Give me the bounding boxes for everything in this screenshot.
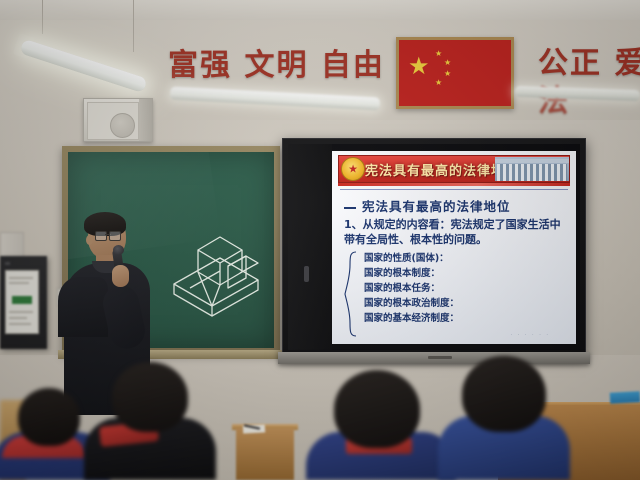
cabinet-poster — [5, 270, 39, 334]
wall-slogan-left: 富强 文明 自由 — [168, 40, 385, 84]
teacher-hand — [112, 265, 129, 287]
chinese-national-flag: ★ ★ ★ ★ ★ — [399, 40, 511, 106]
slide-heading: 宪法具有最高的法律地位 — [344, 196, 566, 215]
speaker-grille — [87, 102, 139, 140]
banner-underline — [338, 183, 570, 186]
bracket-item: 国家的根本政治制度： — [358, 296, 566, 311]
display-side-button[interactable] — [304, 266, 309, 282]
teacher-ear — [86, 235, 93, 245]
slide-banner-title: 宪法具有最高的法律地位 — [365, 160, 495, 179]
isometric-block-drawing-icon — [168, 222, 268, 318]
student-figure — [306, 370, 456, 480]
desk — [236, 428, 294, 480]
curly-brace-icon — [344, 251, 358, 326]
bracket-item: 国家的性质(国体)： — [358, 251, 566, 266]
student-figure — [84, 362, 216, 480]
speaker-side-panel — [139, 99, 152, 141]
flag-big-star: ★ — [408, 54, 430, 78]
cabinet-latch — [5, 262, 10, 265]
flag-small-star: ★ — [444, 70, 451, 78]
display-side-bezel — [288, 144, 332, 350]
slide-banner: 宪法具有最高的法律地位 — [338, 155, 570, 183]
display-screen[interactable]: 宪法具有最高的法律地位 宪法具有最高的法律地位 1、从规定的内容看：宪法规定了国… — [288, 144, 580, 350]
ceiling-edge — [0, 0, 640, 20]
slide-bracket-group: 国家的性质(国体)： 国家的根本制度： 国家的根本任务： 国家的根本政治制度： … — [344, 251, 566, 326]
flag-small-star: ★ — [435, 50, 442, 58]
bracket-item-list: 国家的性质(国体)： 国家的根本制度： 国家的根本任务： 国家的根本政治制度： … — [358, 251, 566, 326]
slide-body: 宪法具有最高的法律地位 1、从规定的内容看：宪法规定了国家生活中 带有全局性、根… — [332, 190, 576, 326]
presentation-slide: 宪法具有最高的法律地位 宪法具有最高的法律地位 1、从规定的内容看：宪法规定了国… — [332, 151, 576, 344]
national-emblem-icon — [341, 157, 365, 181]
light-suspension-wire — [42, 0, 43, 34]
bracket-item: 国家的根本制度： — [358, 266, 566, 281]
slide-paragraph-line-2: 带有全局性、根本性的问题。 — [344, 233, 566, 247]
wall-cabinet — [0, 256, 47, 349]
flag-small-star: ★ — [444, 59, 451, 67]
classroom-photo: 富强 文明 自由 公正 爱 法 ★ ★ ★ ★ ★ — [0, 0, 640, 480]
eyeglasses-icon — [95, 231, 121, 239]
smart-board-display[interactable]: 宪法具有最高的法律地位 宪法具有最高的法律地位 1、从规定的内容看：宪法规定了国… — [282, 138, 586, 356]
slide-divider — [340, 189, 568, 190]
speaker-cone — [110, 113, 135, 138]
slide-footer-marks: · · · · · · — [511, 332, 550, 338]
flag-small-star: ★ — [435, 79, 442, 87]
heading-dash — [344, 207, 356, 209]
slide-paragraph-line-1: 1、从规定的内容看：宪法规定了国家生活中 — [344, 218, 566, 232]
microphone-head — [113, 245, 124, 255]
student-figure — [438, 356, 570, 480]
light-suspension-wire — [133, 0, 134, 52]
great-hall-building-icon — [495, 157, 569, 181]
slide-heading-text: 宪法具有最高的法律地位 — [362, 199, 511, 214]
bracket-item: 国家的基本经济制度： — [358, 311, 566, 326]
speaker-icon — [83, 98, 153, 142]
poster-green-band — [12, 296, 32, 304]
teacher-shoulder — [58, 277, 108, 337]
book — [610, 391, 640, 404]
flag-frame: ★ ★ ★ ★ ★ — [396, 37, 514, 109]
bracket-item: 国家的根本任务： — [358, 281, 566, 296]
